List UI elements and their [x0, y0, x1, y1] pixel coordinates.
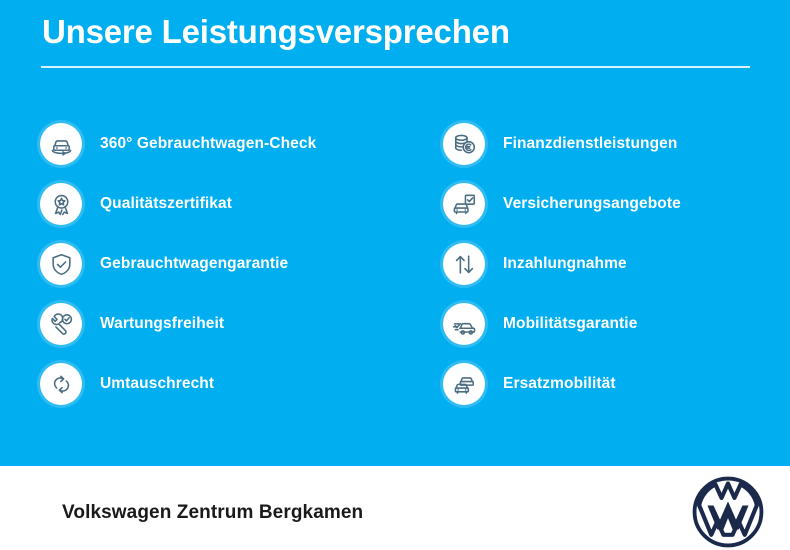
benefit-item: Mobilitätsgarantie	[443, 294, 790, 354]
benefit-label: Gebrauchtwagengarantie	[100, 255, 288, 273]
up-down-arrows-icon	[443, 243, 485, 285]
two-cars-icon	[443, 363, 485, 405]
car-document-check-icon	[443, 183, 485, 225]
benefit-label: Umtauschrecht	[100, 375, 214, 393]
volkswagen-logo	[690, 474, 766, 550]
benefit-item: Wartungsfreiheit	[40, 294, 430, 354]
dealer-name: Volkswagen Zentrum Bergkamen	[62, 502, 363, 524]
car-moving-icon	[443, 303, 485, 345]
benefits-column-right: Finanzdienstleistungen	[443, 114, 790, 414]
benefit-label: Mobilitätsgarantie	[503, 315, 637, 333]
wrench-check-icon	[40, 303, 82, 345]
benefit-label: Qualitätszertifikat	[100, 195, 232, 213]
benefit-label: Ersatzmobilität	[503, 375, 616, 393]
benefit-label: Inzahlungnahme	[503, 255, 627, 273]
benefit-label: Versicherungsangebote	[503, 195, 681, 213]
page-title: Unsere Leistungsversprechen	[42, 11, 510, 53]
hero-panel: Unsere Leistungsversprechen	[0, 0, 790, 466]
benefit-item: Umtauschrecht	[40, 354, 430, 414]
promise-banner: Unsere Leistungsversprechen	[0, 0, 790, 527]
benefits-column-left: 360° Gebrauchtwagen-Check Qualitätszerti…	[40, 114, 430, 414]
coins-euro-icon	[443, 123, 485, 165]
benefit-item: Ersatzmobilität	[443, 354, 790, 414]
benefit-item: Inzahlungnahme	[443, 234, 790, 294]
benefit-item: Finanzdienstleistungen	[443, 114, 790, 174]
exchange-arrows-icon	[40, 363, 82, 405]
benefit-label: Finanzdienstleistungen	[503, 135, 677, 153]
footer-bar: Volkswagen Zentrum Bergkamen	[0, 466, 790, 527]
shield-check-icon	[40, 243, 82, 285]
car-360-check-icon	[40, 123, 82, 165]
benefit-item: Gebrauchtwagengarantie	[40, 234, 430, 294]
benefit-item: Versicherungsangebote	[443, 174, 790, 234]
benefit-label: Wartungsfreiheit	[100, 315, 224, 333]
benefit-label: 360° Gebrauchtwagen-Check	[100, 135, 316, 153]
title-divider	[41, 66, 750, 68]
benefit-item: 360° Gebrauchtwagen-Check	[40, 114, 430, 174]
award-rosette-icon	[40, 183, 82, 225]
benefit-item: Qualitätszertifikat	[40, 174, 430, 234]
